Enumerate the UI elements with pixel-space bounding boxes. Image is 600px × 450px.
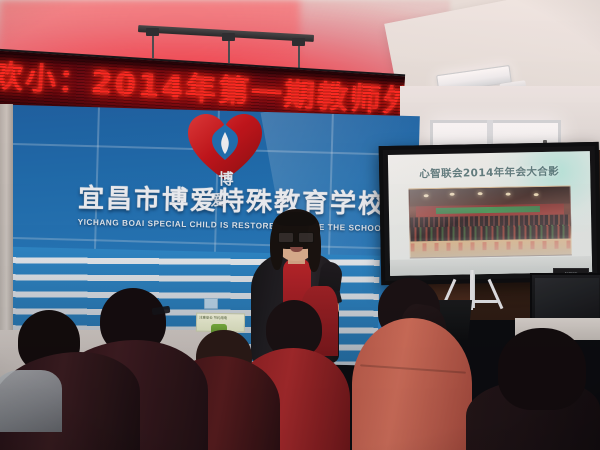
audience-fur-trim (0, 370, 62, 432)
rail-bracket (146, 28, 159, 36)
school-sign: 宜昌市博爱特殊教育学校 YICHANG BOAI SPECIAL CHILD I… (78, 178, 399, 234)
left-wall-pillar (0, 104, 13, 354)
glasses-lens-right (298, 232, 314, 243)
wall-monitor-screen (535, 278, 599, 323)
audience-torso (352, 318, 472, 450)
school-name-chinese: 宜昌市博爱特殊教育学校 (78, 178, 399, 222)
presenter-glasses (278, 232, 314, 241)
rail-hanger-wire (152, 36, 154, 58)
glasses-lens-left (278, 232, 294, 243)
projection-screen: 心智联会2014年年会大合影 (379, 142, 600, 285)
photo-scene: 欢小：2014年第一期教师外培 (0, 0, 600, 450)
rail-hanger-wire (228, 41, 230, 63)
rail-bracket (222, 33, 235, 41)
rail-bracket (292, 38, 305, 46)
wall-power-outlet[interactable] (204, 298, 218, 309)
audience-head (498, 328, 586, 410)
boai-heart-logo: 博 爱 (186, 112, 264, 186)
rail-hanger-wire (298, 46, 300, 68)
presenter-bangs (276, 212, 316, 226)
projection-screen-surface: 心智联会2014年年会大合影 (388, 151, 592, 276)
